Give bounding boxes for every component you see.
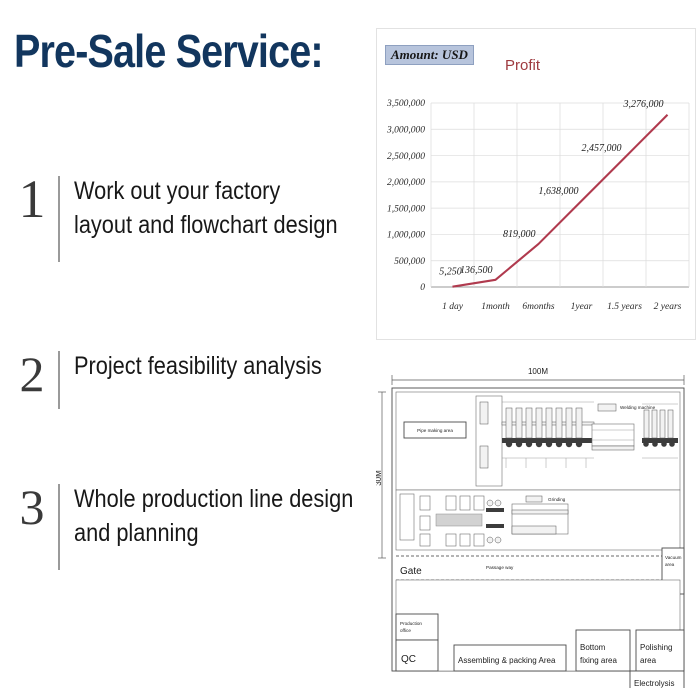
service-text-2-line1: Project feasibility analysis bbox=[74, 349, 322, 383]
chart-y-tick-label: 3,500,000 bbox=[386, 99, 425, 109]
service-divider-1 bbox=[58, 176, 60, 262]
chart-y-axis-ticks: 0500,0001,000,0001,500,0002,000,0002,500… bbox=[386, 99, 425, 293]
service-text-1: Work out your factory layout and flowcha… bbox=[74, 170, 338, 242]
chart-x-axis-ticks: 1 day1month6months1year1.5 years2 years bbox=[442, 302, 682, 312]
service-number-2: 2 bbox=[12, 345, 52, 403]
chart-y-tick-label: 0 bbox=[420, 283, 425, 293]
floorplan-production-office-label-2: office bbox=[400, 628, 411, 633]
floorplan-electrolysis-label: Electrolysis bbox=[634, 679, 674, 688]
floorplan-side-store bbox=[400, 494, 414, 540]
floorplan-production-office-label: Production bbox=[400, 621, 422, 626]
service-item-1: 1 Work out your factory layout and flowc… bbox=[12, 170, 377, 262]
service-divider-2 bbox=[58, 351, 60, 409]
chart-x-tick-label: 2 years bbox=[654, 302, 682, 312]
chart-point-label: 1,638,000 bbox=[539, 186, 579, 197]
floorplan-gate-label: Gate bbox=[400, 566, 422, 577]
chart-title: Profit bbox=[505, 57, 540, 74]
floorplan-machine-cluster-1 bbox=[502, 402, 594, 468]
chart-point-label: 2,457,000 bbox=[582, 143, 622, 154]
floorplan-machine-note-a-label: Welding machine bbox=[620, 405, 656, 410]
factory-floorplan-panel: 100M 30M Pipe making area bbox=[376, 362, 698, 688]
chart-point-labels: 5,250136,500819,0001,638,0002,457,0003,2… bbox=[439, 99, 663, 278]
chart-x-tick-label: 1 day bbox=[442, 302, 464, 312]
service-text-3-line1: Whole production line design bbox=[74, 482, 353, 516]
profit-chart-panel: Amount: USD Profit 0500,0001,000,0001,50… bbox=[376, 28, 696, 340]
floorplan-vacuum-area-label: Vacuum bbox=[665, 555, 682, 560]
chart-plot-area: 0500,0001,000,0001,500,0002,000,0002,500… bbox=[377, 91, 697, 339]
chart-point-label: 136,500 bbox=[460, 265, 493, 276]
floorplan-bottom-fixing-label: Bottom bbox=[580, 643, 606, 652]
service-text-2: Project feasibility analysis bbox=[74, 345, 322, 383]
floorplan-vacuum-area-label-2: area bbox=[665, 562, 675, 567]
floorplan-highlighted-bench bbox=[436, 514, 482, 526]
service-divider-3 bbox=[58, 484, 60, 570]
chart-y-tick-label: 3,000,000 bbox=[386, 125, 425, 135]
floorplan-qc-label: QC bbox=[401, 654, 416, 665]
services-column: Pre-Sale Service: 1 Work out your factor… bbox=[0, 0, 372, 700]
service-text-1-line1: Work out your factory bbox=[74, 174, 338, 208]
chart-amount-unit-label: Amount: USD bbox=[385, 45, 474, 65]
floorplan-polishing-label-2: area bbox=[640, 656, 657, 665]
floorplan-bottom-fixing-label-2: fixing area bbox=[580, 656, 617, 665]
service-number-3: 3 bbox=[12, 478, 52, 536]
floorplan-polishing-label: Polishing bbox=[640, 643, 672, 652]
chart-y-tick-label: 1,000,000 bbox=[387, 231, 425, 241]
page-title: Pre-Sale Service: bbox=[14, 26, 323, 76]
floorplan-production-office bbox=[396, 614, 438, 640]
floorplan-machine-note-b-label: Grinding bbox=[548, 497, 566, 502]
chart-y-tick-label: 2,500,000 bbox=[387, 152, 425, 162]
service-text-3-line2: and planning bbox=[74, 516, 353, 550]
chart-y-tick-label: 500,000 bbox=[394, 257, 425, 267]
service-text-3: Whole production line design and plannin… bbox=[74, 478, 353, 550]
service-item-3: 3 Whole production line design and plann… bbox=[12, 478, 395, 570]
chart-y-tick-label: 1,500,000 bbox=[387, 204, 425, 214]
chart-y-tick-label: 2,000,000 bbox=[387, 178, 425, 188]
chart-point-label: 3,276,000 bbox=[623, 99, 664, 110]
chart-point-label: 5,250 bbox=[439, 267, 462, 278]
floorplan-height-dimension-label: 30M bbox=[376, 470, 383, 486]
floorplan-assembling-area-label: Assembling & packing Area bbox=[458, 656, 556, 665]
floorplan-svg: 100M 30M Pipe making area bbox=[376, 362, 698, 688]
chart-x-tick-label: 1year bbox=[571, 302, 593, 312]
floorplan-passage-way-label: Passage way bbox=[486, 565, 514, 570]
floorplan-width-dimension-label: 100M bbox=[528, 367, 548, 376]
chart-point-label: 819,000 bbox=[503, 229, 536, 240]
service-item-2: 2 Project feasibility analysis bbox=[12, 345, 359, 409]
figures-column: Amount: USD Profit 0500,0001,000,0001,50… bbox=[374, 0, 700, 700]
floorplan-pipe-making-area-label: Pipe making area bbox=[417, 428, 453, 433]
floorplan-width-dimension: 100M bbox=[392, 367, 684, 385]
floorplan-utility-unit-b bbox=[480, 446, 488, 468]
chart-x-tick-label: 1month bbox=[481, 302, 510, 312]
service-number-1: 1 bbox=[12, 170, 52, 228]
floorplan-utility-unit-a bbox=[480, 402, 488, 424]
chart-x-tick-label: 6months bbox=[522, 302, 555, 312]
service-text-1-line2: layout and flowchart design bbox=[74, 208, 338, 242]
chart-x-tick-label: 1.5 years bbox=[607, 302, 642, 312]
floorplan-height-dimension: 30M bbox=[376, 392, 386, 558]
chart-svg: 0500,0001,000,0001,500,0002,000,0002,500… bbox=[377, 91, 697, 339]
